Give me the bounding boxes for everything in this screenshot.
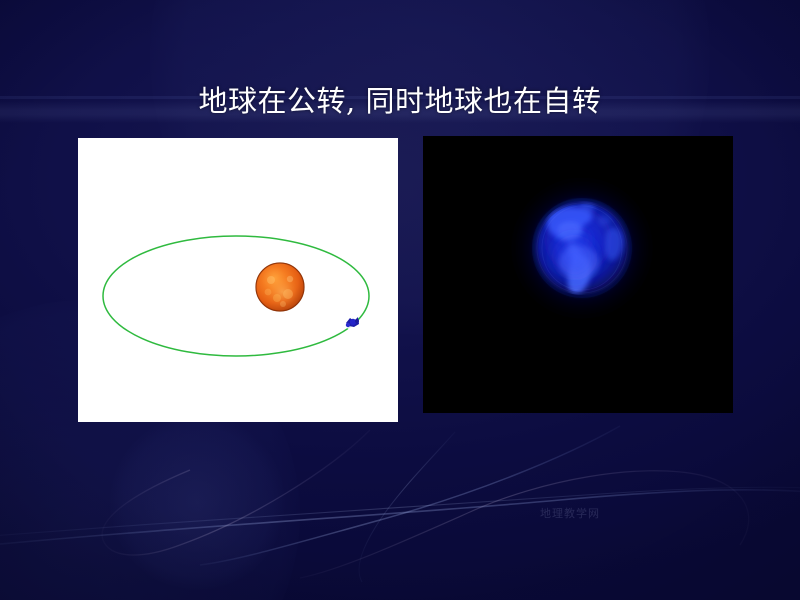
slide-canvas: 地理教学网 地球在公转, 同时地球也在自转 [0,0,800,600]
slide-vignette [0,0,800,600]
